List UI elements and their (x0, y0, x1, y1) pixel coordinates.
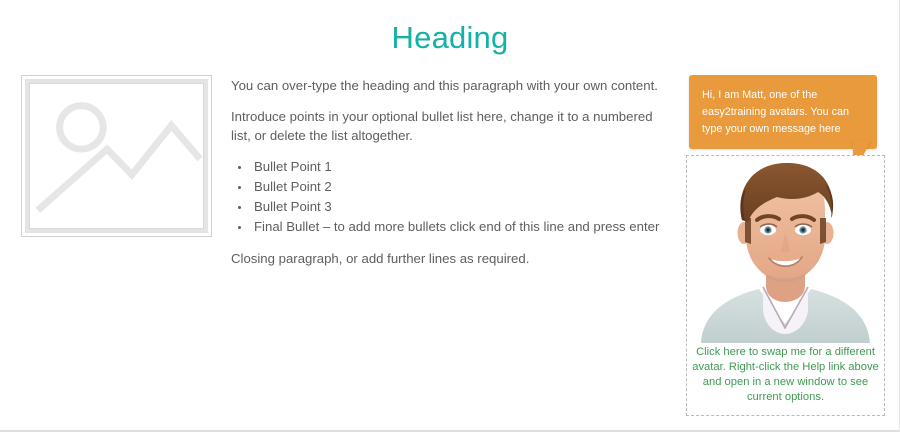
closing-paragraph[interactable]: Closing paragraph, or add further lines … (231, 249, 663, 268)
list-item[interactable]: Bullet Point 2 (251, 177, 663, 197)
bullet-list[interactable]: Bullet Point 1 Bullet Point 2 Bullet Poi… (231, 157, 663, 237)
picture-placeholder-inner (29, 83, 204, 229)
slide-canvas: Heading You can over-type the heading an… (0, 0, 900, 432)
body-content[interactable]: You can over-type the heading and this p… (231, 76, 663, 280)
avatar-panel[interactable]: Click here to swap me for a different av… (686, 155, 885, 416)
list-item[interactable]: Bullet Point 1 (251, 157, 663, 177)
intro-paragraph[interactable]: You can over-type the heading and this p… (231, 76, 663, 95)
list-item[interactable]: Bullet Point 3 (251, 197, 663, 217)
page-title[interactable]: Heading (0, 20, 900, 56)
list-item[interactable]: Final Bullet – to add more bullets click… (251, 217, 663, 237)
picture-placeholder-icon (30, 84, 203, 228)
avatar-illustration-icon (687, 158, 884, 343)
avatar-speech-bubble[interactable]: Hi, I am Matt, one of the easy2training … (689, 75, 877, 149)
avatar-swap-caption[interactable]: Click here to swap me for a different av… (691, 345, 880, 405)
avatar[interactable] (687, 158, 884, 343)
picture-placeholder[interactable] (21, 75, 212, 237)
list-intro-paragraph[interactable]: Introduce points in your optional bullet… (231, 107, 663, 145)
